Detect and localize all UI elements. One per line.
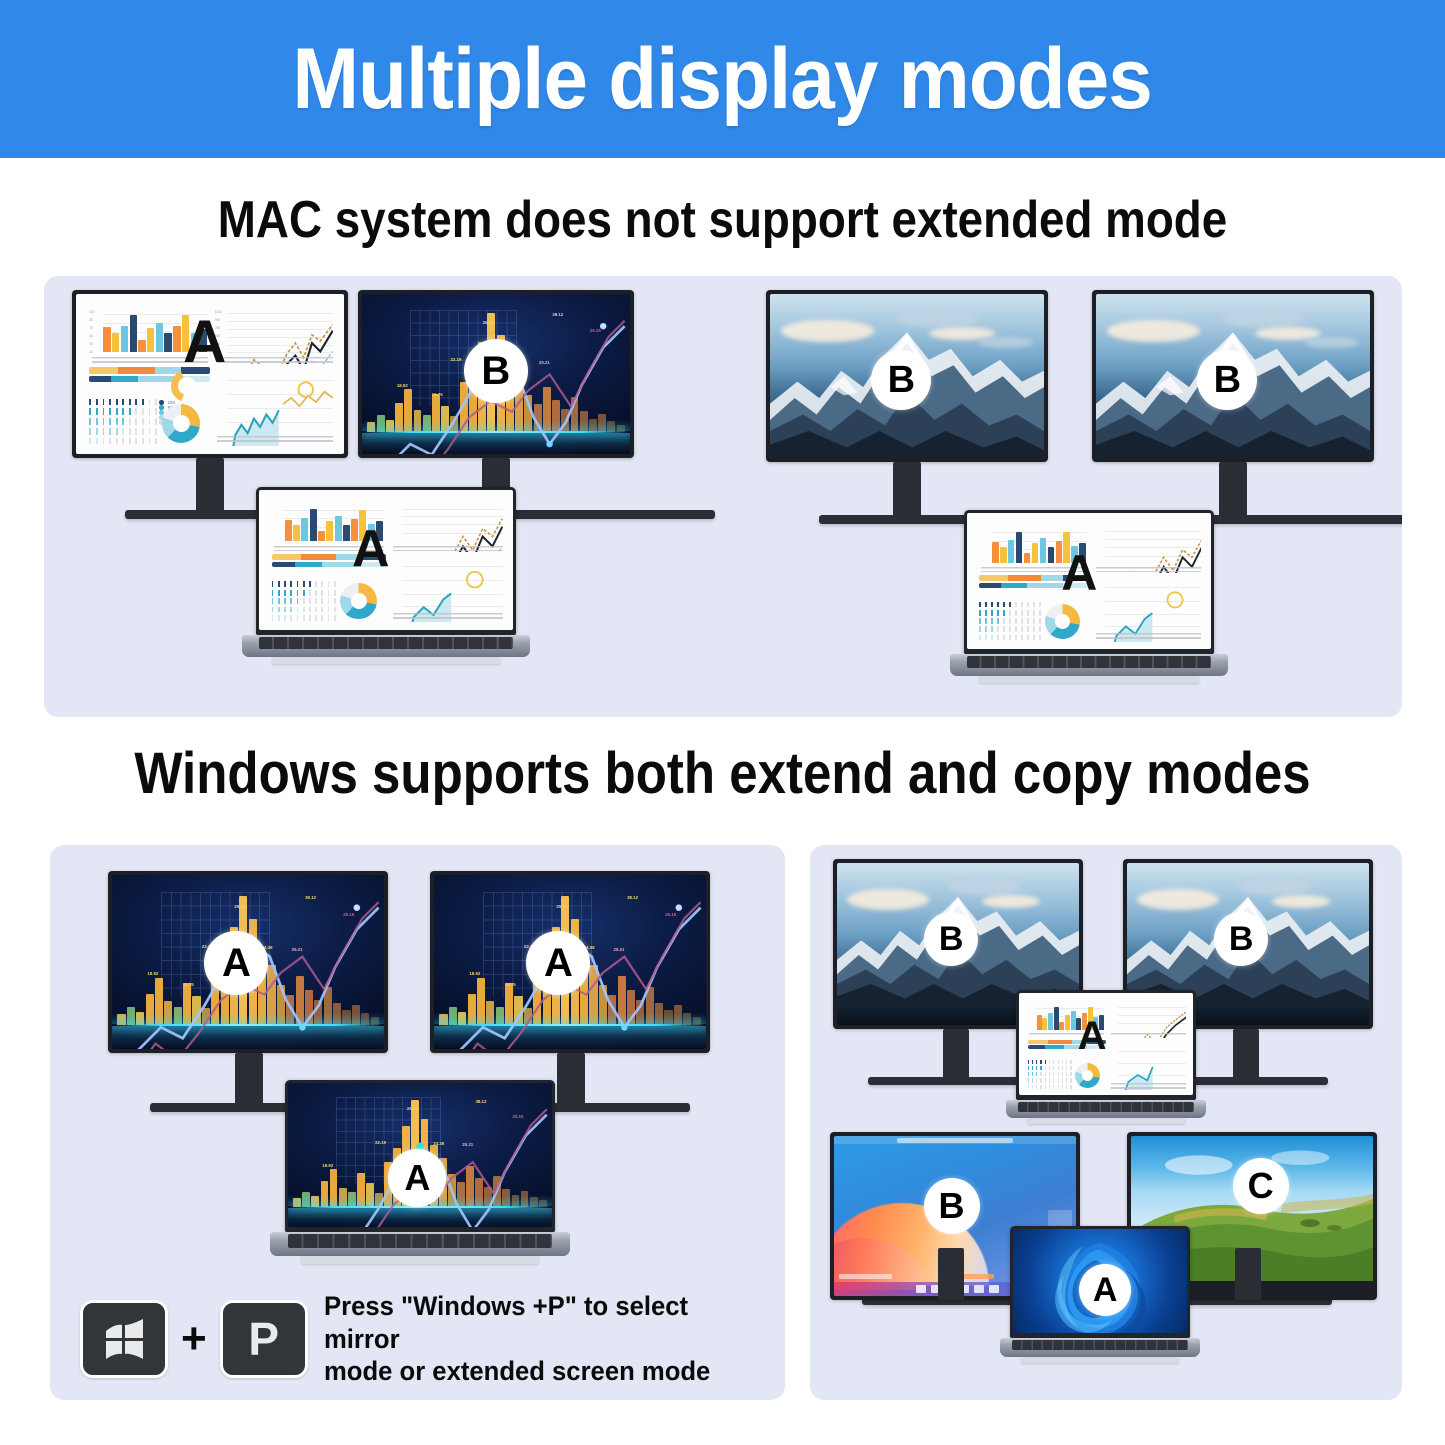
monitor-screen: B [1092,290,1374,462]
monitor-neck [196,458,224,512]
monitor-win-mirror-a1[interactable]: 25.01 22.19 24.38 18.92 19.75 38.12 25.1… [108,871,388,1053]
data-label: 18.92 [397,384,408,388]
laptop-display-area: A [1019,993,1193,1095]
screen-label-b: B [1197,350,1257,410]
laptop-keyboard[interactable] [288,1234,552,1247]
screen-label-b: B [1214,912,1268,966]
laptop-win-extend-bottom[interactable]: A [1010,1226,1190,1372]
data-label: 25.01 [407,1107,418,1111]
dashboard-line-chart: 1100900700 600300100 [215,307,336,364]
laptop-lid: A [256,487,516,635]
heatmap-grid [89,399,157,445]
keyboard-shortcut-block: + P Press "Windows +P" to select mirror … [80,1295,770,1383]
laptop-keyboard-deck [950,654,1228,676]
monitor-mac-extend-b[interactable]: 25.01 22.19 24.38 18.92 19.75 38.12 25.1… [358,290,634,458]
data-label: 25.15 [343,913,354,917]
data-label: 24.38 [433,1142,444,1146]
laptop-keyboard-deck [1000,1338,1200,1357]
data-label: 38.12 [552,313,563,317]
screen-label-c: C [1233,1158,1289,1214]
infographic-page: Multiple display modes MAC system does n… [0,0,1445,1445]
p-key[interactable]: P [220,1300,308,1378]
panel-mac-modes: 1108570 603010 [44,276,1402,717]
laptop-foot [979,676,1199,683]
laptop-display-area: A [259,490,513,630]
monitor-display-area: 1108570 603010 [76,294,344,454]
monitor-display-area: 25.01 22.19 24.38 18.92 19.75 38.12 25.1… [362,294,630,454]
screen-label-b: B [924,912,978,966]
laptop-mac-mirror[interactable]: A [964,510,1214,688]
shortcut-line-2: mode or extended screen mode [324,1355,748,1388]
donut-chart [162,404,201,443]
windows-logo-icon [100,1317,148,1361]
laptop-lid: 25.01 22.19 24.38 18.92 38.12 25.15 25.2… [285,1080,555,1232]
shortcut-instruction: Press "Windows +P" to select mirror mode… [324,1290,748,1389]
monitor-screen: 25.01 22.19 24.38 18.92 19.75 38.12 25.1… [358,290,634,458]
data-label: 38.12 [627,896,638,900]
laptop-display-area: 25.01 22.19 24.38 18.92 38.12 25.15 25.2… [288,1083,552,1227]
data-label: 19.75 [432,393,443,397]
monitor-display-area: B [770,294,1044,458]
monitor-mac-extend-a[interactable]: 1108570 603010 [72,290,348,458]
laptop-win-extend-top[interactable]: A [1016,990,1196,1132]
laptop-keyboard[interactable] [259,637,513,649]
panel-windows-extend: B [810,845,1402,1400]
data-label: 25.15 [512,1115,523,1119]
laptop-keyboard[interactable] [1012,1340,1188,1350]
data-label: 18.92 [147,972,158,976]
desktop-taskbar-label [839,1274,892,1279]
laptop-foot [272,657,501,664]
data-label: 25.21 [292,948,303,952]
desktop-taskbar-highlight [960,1274,994,1279]
monitor-mac-mirror-b2[interactable]: B [1092,290,1374,462]
data-label: 18.92 [322,1164,333,1168]
data-label: 38.12 [305,896,316,900]
monitor-neck [1219,462,1247,516]
data-label: 25.01 [483,321,494,325]
monitor-neck [1235,1248,1261,1300]
data-label: 25.21 [462,1143,473,1147]
monitor-display-area: 25.01 22.19 24.38 18.92 19.75 38.12 25.1… [434,875,706,1049]
monitor-screen: 25.01 22.19 24.38 18.92 19.75 38.12 25.1… [108,871,388,1053]
header-banner: Multiple display modes [0,0,1445,158]
laptop-foot [301,1256,539,1264]
screen-label-a: A [204,931,268,995]
plus-sign: + [181,1317,207,1361]
laptop-keyboard-deck [270,1232,570,1256]
laptop-win-mirror[interactable]: 25.01 22.19 24.38 18.92 38.12 25.15 25.2… [285,1080,555,1270]
dashboard-area-chart [215,367,336,446]
data-label: 25.21 [539,361,550,365]
laptop-display-area: A [967,513,1211,649]
data-label: 25.21 [614,948,625,952]
data-label: 22.19 [375,1141,386,1145]
laptop-lid: A [1010,1226,1190,1338]
monitor-mac-mirror-b1[interactable]: B [766,290,1048,462]
monitor-neck [943,1029,969,1079]
laptop-lid: A [1016,990,1196,1100]
page-title: Multiple display modes [293,36,1152,122]
monitor-screen: B [766,290,1048,462]
laptop-display-area: A [1013,1229,1187,1333]
screen-label-b: B [464,339,528,403]
data-label: 38.12 [475,1100,486,1104]
monitor-neck [235,1053,263,1105]
data-label: 25.01 [234,905,245,909]
windows-key[interactable] [80,1300,168,1378]
monitor-neck [938,1248,964,1300]
monitor-neck [557,1053,585,1105]
laptop-foot [1027,1118,1185,1124]
laptop-keyboard[interactable] [967,656,1211,668]
data-label: 22.19 [450,358,461,362]
screen-label-a: A [526,931,590,995]
laptop-keyboard-deck [1006,1100,1206,1118]
monitor-neck [1233,1029,1259,1079]
monitor-win-mirror-a2[interactable]: 25.01 22.19 24.38 18.92 19.75 38.12 25.1… [430,871,710,1053]
monitor-display-area: 25.01 22.19 24.38 18.92 19.75 38.12 25.1… [112,875,384,1049]
shortcut-line-1: Press "Windows +P" to select mirror [324,1290,748,1356]
monitor-screen: 1108570 603010 [72,290,348,458]
data-label: 19.75 [183,983,194,987]
monitor-neck [893,462,921,516]
screen-label-b: B [924,1178,980,1234]
data-label: 25.15 [590,329,601,333]
heading-mac: MAC system does not support extended mod… [87,190,1359,250]
monitor-screen: 25.01 22.19 24.38 18.92 19.75 38.12 25.1… [430,871,710,1053]
heading-windows: Windows supports both extend and copy mo… [87,740,1359,807]
dashboard-heatmap-legend: 194 965 549 319 1200 [89,367,210,446]
data-label: 19.75 [505,983,516,987]
laptop-keyboard-deck [242,635,531,657]
laptop-keyboard[interactable] [1018,1102,1194,1112]
laptop-lid: A [964,510,1214,654]
data-label: 25.01 [556,905,567,909]
desktop-window[interactable] [897,1138,1013,1144]
p-key-label: P [248,1316,279,1362]
data-label: 25.15 [665,913,676,917]
laptop-foot [1021,1357,1179,1363]
laptop-mac-extend[interactable]: A [256,487,516,667]
data-label: 18.92 [469,972,480,976]
screen-label-b: B [871,350,931,410]
monitor-display-area: B [1096,294,1370,458]
